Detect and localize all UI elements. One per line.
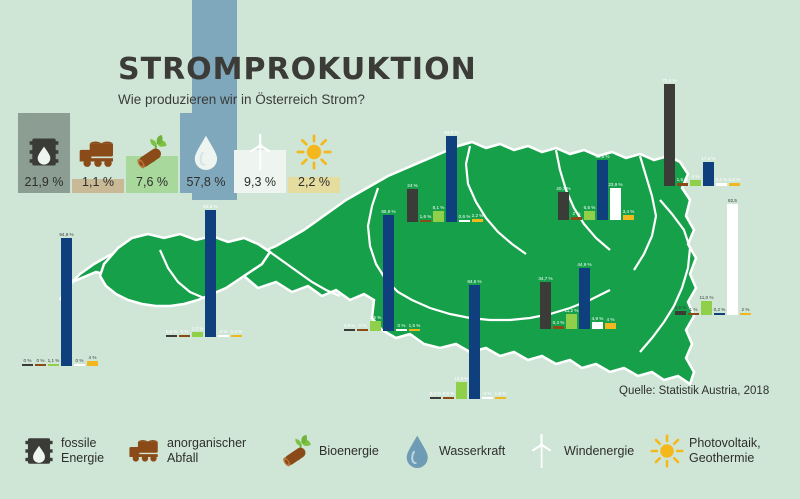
bar-row: 0,2 %0,5 %12,9 %84,5 %0 %1,8 % xyxy=(430,285,508,399)
sun-icon xyxy=(650,432,684,470)
bar-wind: 82,5 xyxy=(727,204,738,315)
bar-fill xyxy=(688,313,699,315)
bar-value-label: 44,5 % xyxy=(595,154,609,159)
bar-fill xyxy=(703,162,714,185)
bar-fill xyxy=(610,188,621,220)
legend-label: fossile Energie xyxy=(61,436,104,466)
bar-row: 0 %0 %1,1 %94,9 %0 %4 % xyxy=(22,238,100,366)
oil-barrel-icon xyxy=(22,432,56,470)
bar-fill xyxy=(729,183,740,185)
bar-fill xyxy=(420,220,431,222)
bar-value-label: 84,5 % xyxy=(467,279,481,284)
bar-value-label: 3,4 % xyxy=(623,209,635,214)
bar-solar: 4 % xyxy=(605,323,616,328)
bar-fill xyxy=(495,397,506,399)
bar-row: 0,6 %0 %7,5 %85,9 %0 %1,5 % xyxy=(344,215,422,331)
bar-waste: 1,5 % xyxy=(677,183,688,185)
bar-fill xyxy=(192,332,203,336)
bar-solar: 0,6 % xyxy=(729,183,740,185)
bar-wind: 0 % xyxy=(482,397,493,399)
bar-value-label: 23,9 % xyxy=(608,182,622,187)
bar-fossil: 0,2 % xyxy=(430,397,441,399)
bar-wind: 4,9 % xyxy=(592,322,603,329)
bar-solar: 1,4 % xyxy=(231,335,242,337)
bar-solar: 3,4 % xyxy=(623,215,634,220)
bar-fossil: 75,2 % xyxy=(664,84,675,186)
bar-hydro: 93,9 % xyxy=(205,210,216,337)
bar-fill xyxy=(344,329,355,331)
bar-hydro: 17,4 % xyxy=(703,162,714,185)
bar-value-label: 12,9 % xyxy=(454,376,468,381)
bar-fossil: 24 % xyxy=(407,189,418,221)
bar-value-label: 34,7 % xyxy=(538,276,552,281)
bar-group-niederoesterreich: 20,7 %2 %6,5 %44,5 %23,9 %3,4 % xyxy=(558,150,636,220)
bar-value-label: 0,6 % xyxy=(729,177,741,182)
bar-fill xyxy=(677,183,688,185)
bar-fill xyxy=(61,238,72,366)
legend-item-garbage-truck: anorganischer Abfall xyxy=(128,432,246,470)
legend-item-wind-turbine: Windenergie xyxy=(525,432,634,470)
bar-hydro: 85,9 % xyxy=(383,215,394,331)
bar-fill xyxy=(584,211,595,220)
bar-fill xyxy=(396,329,407,331)
bar-value-label: 0,5 % xyxy=(443,391,455,396)
bar-bio: 11,2 % xyxy=(566,314,577,329)
bar-group-tirol: 1,5 %0 %3,2 %93,9 %0 %1,4 % xyxy=(166,200,244,337)
bar-bio: 12,9 % xyxy=(456,382,467,399)
bar-row: 24 %1,6 %8,1 %63,6 %0,6 %2,2 % xyxy=(407,136,485,222)
bar-fill xyxy=(205,210,216,337)
bar-value-label: 0 % xyxy=(181,329,189,334)
bar-hydro: 0,2 % xyxy=(714,313,725,315)
bar-value-label: 82,5 xyxy=(728,198,737,203)
bar-fill xyxy=(716,183,727,185)
bar-waste: 2 % xyxy=(571,217,582,220)
bar-fill xyxy=(597,160,608,220)
bar-value-label: 94,9 % xyxy=(59,232,73,237)
bar-waste: 0,4 % xyxy=(553,326,564,328)
legend-label: Photovoltaik, Geothermie xyxy=(689,436,761,466)
bar-value-label: 2,2 % xyxy=(472,213,484,218)
bar-value-label: 93,9 % xyxy=(203,204,217,209)
bar-waste: 0 % xyxy=(35,364,46,366)
bar-value-label: 3,5 % xyxy=(675,305,687,310)
bar-value-label: 1,5 % xyxy=(409,323,421,328)
bar-value-label: 11,2 % xyxy=(565,308,579,313)
bar-wind: 0 % xyxy=(396,329,407,331)
bar-fill xyxy=(472,219,483,222)
bar-waste: 1,6 % xyxy=(420,220,431,222)
bar-fill xyxy=(166,335,177,337)
bar-group-vorarlberg: 0 %0 %1,1 %94,9 %0 %4 % xyxy=(22,228,100,366)
bar-fill xyxy=(701,301,712,316)
bar-group-burgenland: 3,5 %1 %11,0 %0,2 %82,52 % xyxy=(675,194,753,315)
bar-value-label: 6,5 % xyxy=(584,205,596,210)
bar-fill xyxy=(370,321,381,331)
bar-wind: 0,6 % xyxy=(459,220,470,222)
bar-wind: 0 % xyxy=(74,364,85,366)
bar-fill xyxy=(218,335,229,337)
bar-solar: 1,8 % xyxy=(495,397,506,399)
bar-fill xyxy=(727,204,738,315)
source-note: Quelle: Statistik Austria, 2018 xyxy=(619,385,769,397)
bar-value-label: 24 % xyxy=(407,183,417,188)
bar-bio: 4 % xyxy=(690,180,701,185)
bar-fill xyxy=(664,84,675,186)
bar-fill xyxy=(35,364,46,366)
bar-value-label: 75,2 % xyxy=(662,78,676,83)
bar-solar: 2,2 % xyxy=(472,219,483,222)
wind-turbine-icon xyxy=(525,432,559,470)
bar-hydro: 44,5 % xyxy=(597,160,608,220)
austria-map: 0 %0 %1,1 %94,9 %0 %4 %1,5 %0 %3,2 %93,9… xyxy=(0,0,800,430)
bar-value-label: 63,6 % xyxy=(444,130,458,135)
bar-fill xyxy=(22,364,33,366)
infographic-root: STROMPROKUKTION Wie produzieren wir in Ö… xyxy=(0,0,800,499)
bar-value-label: 0 % xyxy=(359,323,367,328)
bar-waste: 0 % xyxy=(179,335,190,337)
bar-fossil: 3,5 % xyxy=(675,311,686,316)
bar-fill xyxy=(623,215,634,220)
bar-waste: 1 % xyxy=(688,313,699,315)
bar-value-label: 11,0 % xyxy=(700,295,714,300)
legend: fossile Energie anorganischer Abfall B xyxy=(0,424,800,486)
bar-value-label: 0 % xyxy=(484,391,492,396)
bar-value-label: 8,1 % xyxy=(433,205,445,210)
bar-value-label: 0,2 % xyxy=(716,177,728,182)
bar-fill xyxy=(690,180,701,185)
bar-waste: 0,5 % xyxy=(443,397,454,399)
bar-value-label: 1,8 % xyxy=(495,391,507,396)
bar-value-label: 0,2 % xyxy=(430,391,442,396)
bar-fill xyxy=(74,364,85,366)
bar-hydro: 44,9 % xyxy=(579,268,590,329)
bar-group-kaernten: 0,2 %0,5 %12,9 %84,5 %0 %1,8 % xyxy=(430,275,508,399)
legend-item-water-drop: Wasserkraft xyxy=(400,432,505,470)
bar-value-label: 4 % xyxy=(607,317,615,322)
bar-fill xyxy=(482,397,493,399)
bar-value-label: 0 % xyxy=(37,358,45,363)
bar-waste: 0 % xyxy=(357,329,368,331)
bar-fill xyxy=(469,285,480,399)
legend-label: anorganischer Abfall xyxy=(167,436,246,466)
bar-value-label: 7,5 % xyxy=(370,315,382,320)
bar-bio: 1,1 % xyxy=(48,364,59,366)
bar-value-label: 1,1 % xyxy=(48,358,60,363)
bar-fill xyxy=(558,192,569,220)
bar-fill xyxy=(430,397,441,399)
bar-fill xyxy=(409,329,420,331)
bar-fill xyxy=(357,329,368,331)
bar-bio: 6,5 % xyxy=(584,211,595,220)
garbage-truck-icon xyxy=(128,432,162,470)
bar-wind: 23,9 % xyxy=(610,188,621,220)
bar-fill xyxy=(675,311,686,316)
bar-row: 75,2 %1,5 %4 %17,4 %0,2 %0,6 % xyxy=(664,84,742,186)
bar-value-label: 4 % xyxy=(692,174,700,179)
bar-fill xyxy=(443,397,454,399)
bar-row: 1,5 %0 %3,2 %93,9 %0 %1,4 % xyxy=(166,210,244,337)
bar-bio: 3,2 % xyxy=(192,332,203,336)
bar-group-wien: 75,2 %1,5 %4 %17,4 %0,2 %0,6 % xyxy=(664,74,742,186)
bar-solar: 1,5 % xyxy=(409,329,420,331)
bar-value-label: 85,9 % xyxy=(381,209,395,214)
bar-value-label: 1,5 % xyxy=(166,329,178,334)
legend-label: Wasserkraft xyxy=(439,444,505,459)
legend-item-sun: Photovoltaik, Geothermie xyxy=(650,432,761,470)
bar-fill xyxy=(540,282,551,329)
bar-group-oberoesterreich: 24 %1,6 %8,1 %63,6 %0,6 %2,2 % xyxy=(407,126,485,222)
bar-value-label: 1,4 % xyxy=(231,329,243,334)
bar-fossil: 0,6 % xyxy=(344,329,355,331)
bar-fill xyxy=(407,189,418,221)
bar-fill xyxy=(459,220,470,222)
bar-bio: 11,0 % xyxy=(701,301,712,316)
bar-fill xyxy=(456,382,467,399)
bar-value-label: 0,2 % xyxy=(714,307,726,312)
bar-value-label: 0 % xyxy=(398,323,406,328)
bar-value-label: 4 % xyxy=(89,355,97,360)
bar-value-label: 0 % xyxy=(24,358,32,363)
bar-fill xyxy=(605,323,616,328)
bar-wind: 0 % xyxy=(218,335,229,337)
bar-fill xyxy=(179,335,190,337)
bar-fossil: 34,7 % xyxy=(540,282,551,329)
bar-solar: 4 % xyxy=(87,361,98,366)
bar-row: 34,7 %0,4 %11,2 %44,9 %4,9 %4 % xyxy=(540,268,618,329)
bar-fossil: 20,7 % xyxy=(558,192,569,220)
bar-value-label: 0,6 % xyxy=(459,214,471,219)
bar-group-salzburg: 0,6 %0 %7,5 %85,9 %0 %1,5 % xyxy=(344,205,422,331)
bar-group-steiermark: 34,7 %0,4 %11,2 %44,9 %4,9 %4 % xyxy=(540,258,618,329)
bar-fossil: 1,5 % xyxy=(166,335,177,337)
bar-fill xyxy=(714,313,725,315)
bar-hydro: 94,9 % xyxy=(61,238,72,366)
bar-fill xyxy=(433,211,444,222)
bar-fill xyxy=(231,335,242,337)
bar-bio: 7,5 % xyxy=(370,321,381,331)
bar-fill xyxy=(566,314,577,329)
bar-fill xyxy=(553,326,564,328)
bar-value-label: 44,9 % xyxy=(577,262,591,267)
bar-value-label: 2 % xyxy=(573,211,581,216)
legend-label: Bioenergie xyxy=(319,444,379,459)
bar-hydro: 63,6 % xyxy=(446,136,457,222)
bar-value-label: 17,4 % xyxy=(701,156,715,161)
legend-label: Windenergie xyxy=(564,444,634,459)
bar-value-label: 0,6 % xyxy=(344,323,356,328)
bar-value-label: 0 % xyxy=(220,329,228,334)
bar-fill xyxy=(592,322,603,329)
legend-item-oil-barrel: fossile Energie xyxy=(22,432,104,470)
bar-fill xyxy=(446,136,457,222)
bar-value-label: 4,9 % xyxy=(592,316,604,321)
bar-bio: 8,1 % xyxy=(433,211,444,222)
bar-wind: 0,2 % xyxy=(716,183,727,185)
bar-fill xyxy=(48,364,59,366)
bar-value-label: 20,7 % xyxy=(556,186,570,191)
bar-fossil: 0 % xyxy=(22,364,33,366)
bar-value-label: 3,2 % xyxy=(192,326,204,331)
bar-hydro: 84,5 % xyxy=(469,285,480,399)
bar-fill xyxy=(579,268,590,329)
bar-fill xyxy=(740,313,751,316)
legend-item-log-plant: Bioenergie xyxy=(280,432,379,470)
bar-value-label: 0,4 % xyxy=(553,320,565,325)
bar-value-label: 0 % xyxy=(76,358,84,363)
bar-value-label: 1 % xyxy=(690,307,698,312)
bar-value-label: 1,5 % xyxy=(677,177,689,182)
bar-value-label: 1,6 % xyxy=(420,214,432,219)
water-drop-icon xyxy=(400,432,434,470)
bar-row: 3,5 %1 %11,0 %0,2 %82,52 % xyxy=(675,204,753,315)
bar-fill xyxy=(383,215,394,331)
bar-row: 20,7 %2 %6,5 %44,5 %23,9 %3,4 % xyxy=(558,160,636,220)
log-plant-icon xyxy=(280,432,314,470)
bar-fill xyxy=(571,217,582,220)
bar-fill xyxy=(87,361,98,366)
bar-value-label: 2 % xyxy=(742,307,750,312)
bar-solar: 2 % xyxy=(740,313,751,316)
